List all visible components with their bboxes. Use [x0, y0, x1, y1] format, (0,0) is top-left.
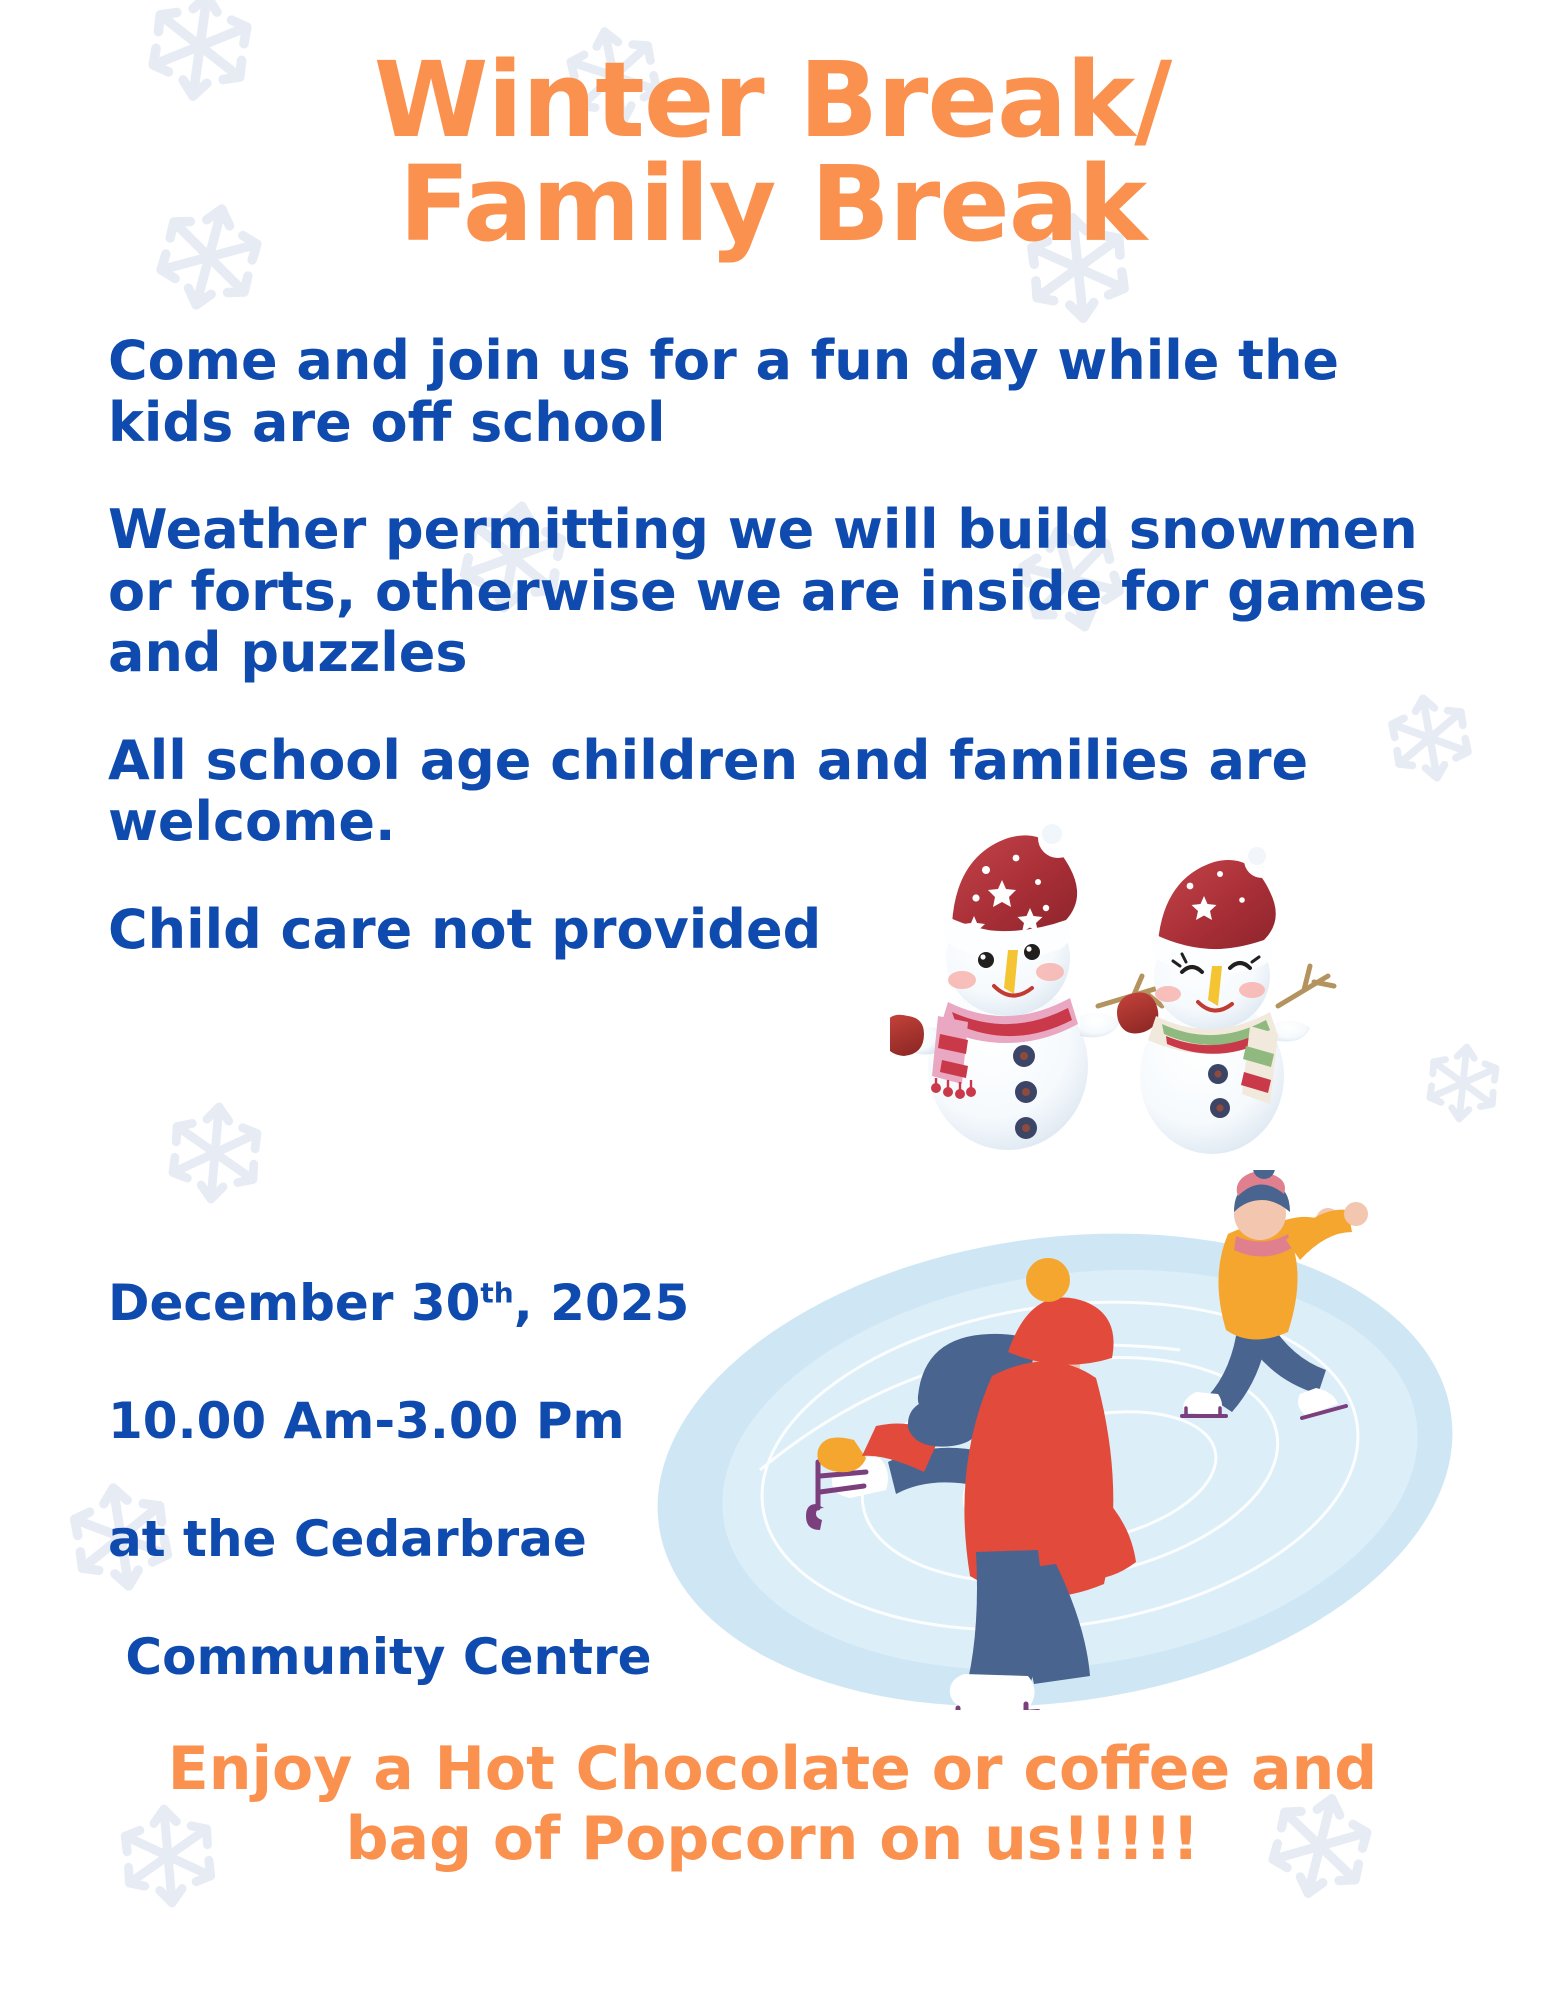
- event-date-suffix: , 2025: [514, 1274, 690, 1332]
- event-date-ordinal: th: [480, 1276, 513, 1309]
- body-paragraph-2: Weather permitting we will build snowmen…: [108, 499, 1458, 684]
- body-paragraphs: Come and join us for a fun day while the…: [108, 330, 1458, 960]
- body-paragraph-1: Come and join us for a fun day while the…: [108, 330, 1458, 453]
- event-date-prefix: December 30: [108, 1274, 480, 1332]
- event-details: December 30th, 2025 10.00 Am-3.00 Pm at …: [108, 1215, 689, 1746]
- flyer-text-content: Winter Break/ Family Break Come and join…: [0, 0, 1545, 2000]
- body-paragraph-4: Child care not provided: [108, 899, 1458, 961]
- winter-break-flyer: Winter Break/ Family Break Come and join…: [0, 0, 1545, 2000]
- event-date: December 30th, 2025: [108, 1274, 689, 1333]
- footer-offer-text: Enjoy a Hot Chocolate or coffee and bag …: [0, 1735, 1545, 1874]
- event-time: 10.00 Am-3.00 Pm: [108, 1392, 689, 1451]
- event-venue-line-2: Community Centre: [108, 1628, 689, 1687]
- body-paragraph-3: All school age children and families are…: [108, 730, 1458, 853]
- page-title: Winter Break/ Family Break: [0, 48, 1545, 256]
- event-venue-line-1: at the Cedarbrae: [108, 1510, 689, 1569]
